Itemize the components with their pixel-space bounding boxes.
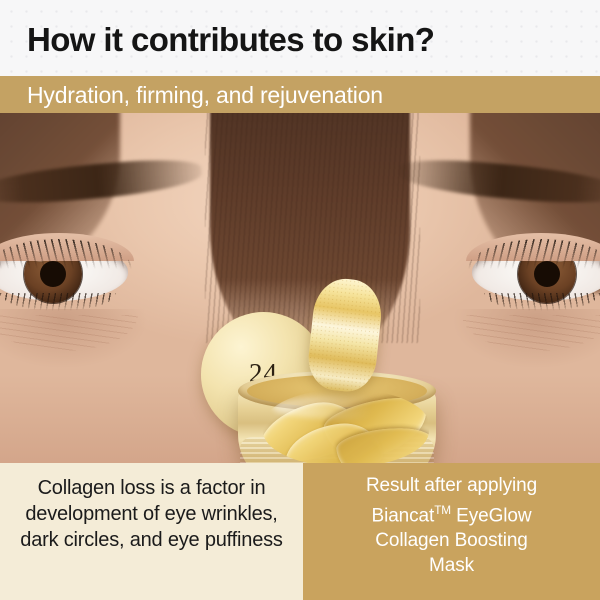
eye-patches-stack	[263, 389, 429, 467]
brand-name: Biancat	[372, 505, 435, 526]
panel-problem: Collagen loss is a factor in development…	[0, 463, 303, 600]
page-title: How it contributes to skin?	[27, 20, 434, 60]
header-band: How it contributes to skin?	[0, 0, 600, 76]
page-subtitle: Hydration, firming, and rejuvenation	[27, 80, 383, 110]
subtitle-band: Hydration, firming, and rejuvenation	[0, 76, 600, 113]
panel-result-line1: Result after applying	[366, 475, 537, 496]
bottom-panels: Collagen loss is a factor in development…	[0, 463, 600, 600]
patch-shine	[273, 395, 413, 419]
promotional-poster: How it contributes to skin? Hydration, f…	[0, 0, 600, 600]
panel-result-line3: Collagen Boosting	[375, 530, 528, 551]
panel-result-text: Result after applying BiancatTM EyeGlow …	[317, 473, 586, 578]
panel-result-line4: Mask	[429, 555, 474, 576]
product-line-name: EyeGlow	[451, 505, 532, 526]
panel-result: Result after applying BiancatTM EyeGlow …	[303, 463, 600, 600]
product-image: 24 GOLD 24K GOLD ESSENCE	[0, 113, 600, 473]
trademark-symbol: TM	[434, 504, 451, 517]
panel-problem-text: Collagen loss is a factor in development…	[8, 475, 295, 553]
